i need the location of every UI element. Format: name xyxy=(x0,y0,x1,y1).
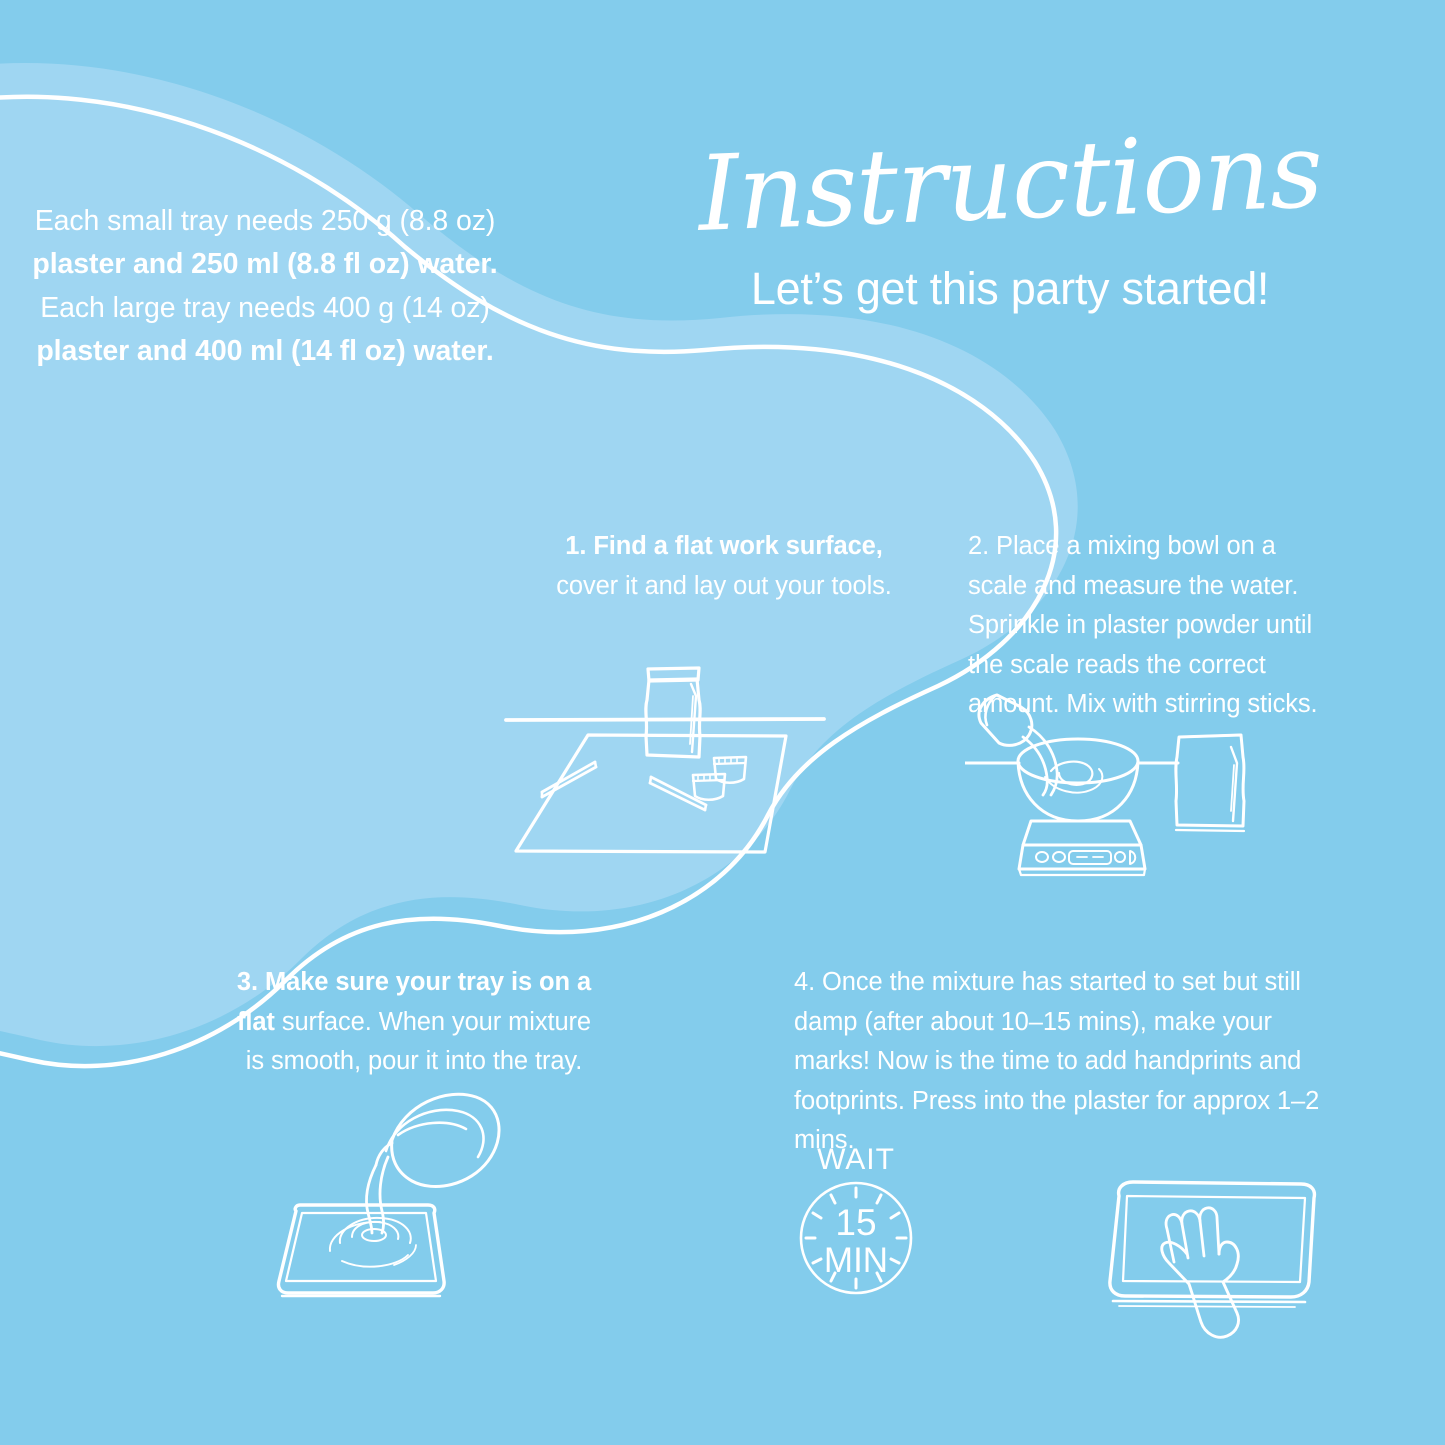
blurb-line-2: plaster and 250 ml (8.8 fl oz) water. xyxy=(20,243,510,286)
blurb-line-1: Each small tray needs 250 g (8.8 oz) xyxy=(20,200,510,243)
blurb-line-4: plaster and 400 ml (14 fl oz) water. xyxy=(20,330,510,373)
work-mat-illustration xyxy=(500,640,830,890)
clock-value: 15 xyxy=(835,1202,876,1243)
handprint-tray-illustration xyxy=(1095,1170,1340,1345)
step-3-text: 3. Make sure your tray is on a flat surf… xyxy=(228,963,600,1082)
step-1-body: cover it and lay out your tools. xyxy=(556,572,892,600)
wait-clock-illustration: 15 MIN xyxy=(790,1140,922,1300)
blurb-line-3: Each large tray needs 400 g (14 oz) xyxy=(20,287,510,330)
step-1-text: 1. Find a flat work surface, cover it an… xyxy=(544,527,904,606)
step-3-body: surface. When your mixture is smooth, po… xyxy=(246,1008,591,1076)
scale-and-bowl-illustration xyxy=(965,685,1265,895)
step-4-text: 4. Once the mixture has started to set b… xyxy=(794,963,1330,1161)
clock-unit: MIN xyxy=(824,1241,888,1280)
step-1-lead: 1. Find a flat work surface, xyxy=(565,532,882,560)
instructions-poster: Each small tray needs 250 g (8.8 oz) pla… xyxy=(0,0,1445,1445)
page-title: Instructions xyxy=(638,114,1382,252)
step-4-body: 4. Once the mixture has started to set b… xyxy=(794,968,1319,1154)
header: Instructions Let’s get this party starte… xyxy=(640,128,1380,315)
pour-into-tray-illustration xyxy=(268,1085,528,1315)
mixing-ratios-blurb: Each small tray needs 250 g (8.8 oz) pla… xyxy=(20,200,510,373)
page-subtitle: Let’s get this party started! xyxy=(640,263,1380,315)
